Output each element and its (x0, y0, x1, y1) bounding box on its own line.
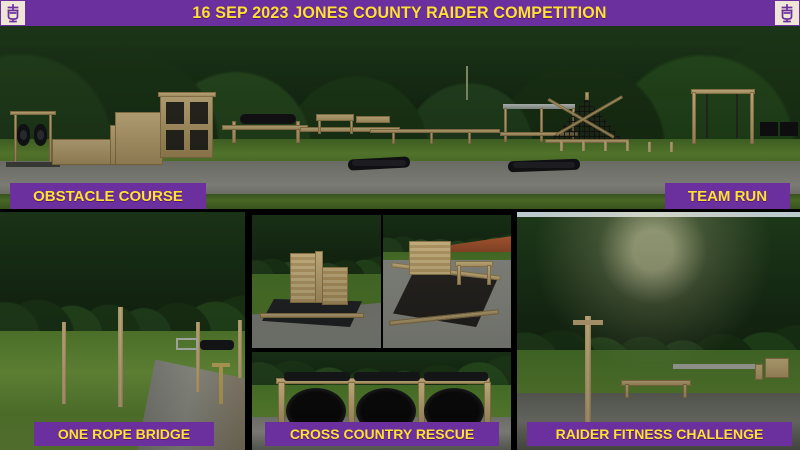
caption-obstacle-course: OBSTACLE COURSE (10, 183, 206, 209)
caption-obstacle-course-label: OBSTACLE COURSE (33, 188, 183, 205)
caption-team-run-label: TEAM RUN (688, 188, 767, 205)
caption-team-run: TEAM RUN (665, 183, 790, 209)
photo-obstacle-wall-b (383, 215, 511, 348)
caption-one-rope-bridge: ONE ROPE BRIDGE (34, 422, 214, 446)
caption-one-rope-bridge-label: ONE ROPE BRIDGE (58, 426, 190, 442)
caption-cross-country-rescue: CROSS COUNTRY RESCUE (265, 422, 499, 446)
caption-raider-fitness-challenge-label: RAIDER FITNESS CHALLENGE (556, 426, 764, 442)
photo-grid (0, 209, 800, 450)
jones-county-logo-icon-left (1, 1, 25, 25)
page-title: 16 SEP 2023 JONES COUNTY RAIDER COMPETIT… (193, 4, 607, 23)
title-bar: 16 SEP 2023 JONES COUNTY RAIDER COMPETIT… (0, 0, 800, 26)
poster-root: 16 SEP 2023 JONES COUNTY RAIDER COMPETIT… (0, 0, 800, 450)
jones-county-logo-icon-right (775, 1, 799, 25)
photo-raider-fitness-challenge (517, 212, 800, 450)
caption-cross-country-rescue-label: CROSS COUNTRY RESCUE (290, 426, 474, 442)
photo-obstacle-wall-a (252, 215, 381, 348)
obstacle-course-panorama-photo (0, 26, 800, 209)
caption-raider-fitness-challenge: RAIDER FITNESS CHALLENGE (527, 422, 792, 446)
photo-one-rope-bridge (0, 212, 245, 450)
